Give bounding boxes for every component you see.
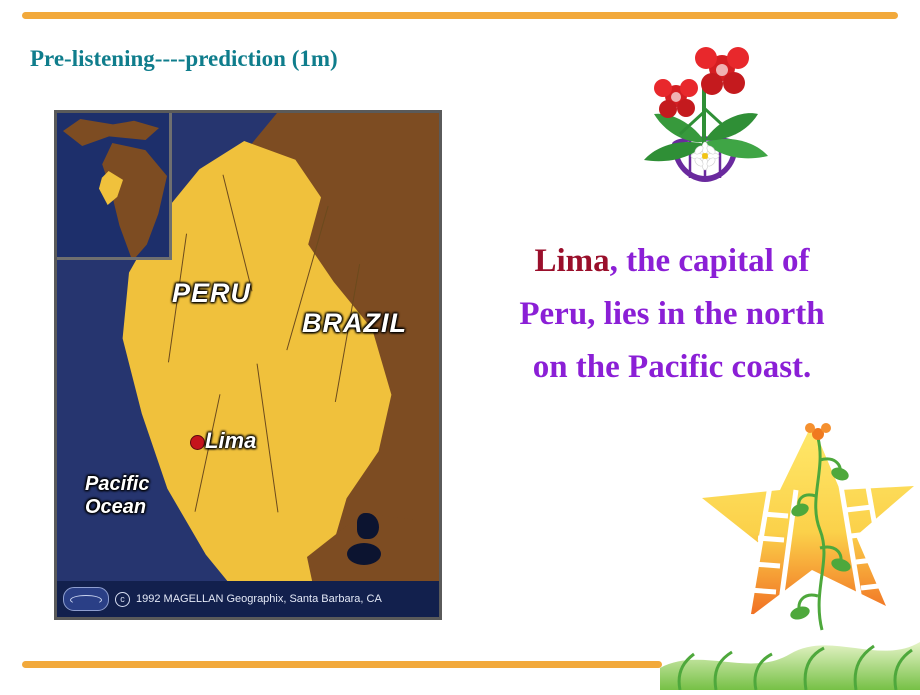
inset-landmass-north [63,119,159,149]
statement-line3: on the Pacific coast. [533,349,812,385]
horizontal-rule-top [22,12,898,19]
map-label-peru: PERU [172,278,251,309]
map-label-pacific-line1: Pacific [85,473,149,495]
map-coast-shape-2 [347,543,381,565]
horizontal-rule-bottom [22,661,662,668]
statement-line1-rest: , the capital of [610,243,810,279]
statement-line2: Peru, lies in the north [519,296,824,332]
map-coast-shape-1 [357,513,379,539]
flower-clipart [620,26,790,201]
peru-map: PERU BRAZIL Lima Pacific Ocean c 1992 MA… [54,110,442,620]
lesson-statement: Lima, the capital of Peru, lies in the n… [462,235,882,394]
page-title: Pre-listening----prediction (1m) [30,46,338,72]
map-label-pacific-line2: Ocean [85,496,146,518]
map-city-dot-lima [190,435,205,450]
red-blossom-secondary-icon [654,79,698,118]
map-credit-bar: c 1992 MAGELLAN Geographix, Santa Barbar… [57,581,439,617]
magellan-logo-icon [63,587,109,611]
map-label-brazil: BRAZIL [302,308,407,339]
grass-clipart [660,596,920,690]
yellow-star-icon [702,424,914,620]
map-inset-locator [54,110,172,260]
map-label-pacific-ocean: Pacific Ocean [85,473,149,519]
red-blossom-icon [695,47,749,95]
map-label-lima: Lima [205,428,256,454]
copyright-icon: c [115,592,130,607]
statement-highlight-word: Lima [535,243,610,279]
map-credit-text: 1992 MAGELLAN Geographix, Santa Barbara,… [136,593,382,605]
